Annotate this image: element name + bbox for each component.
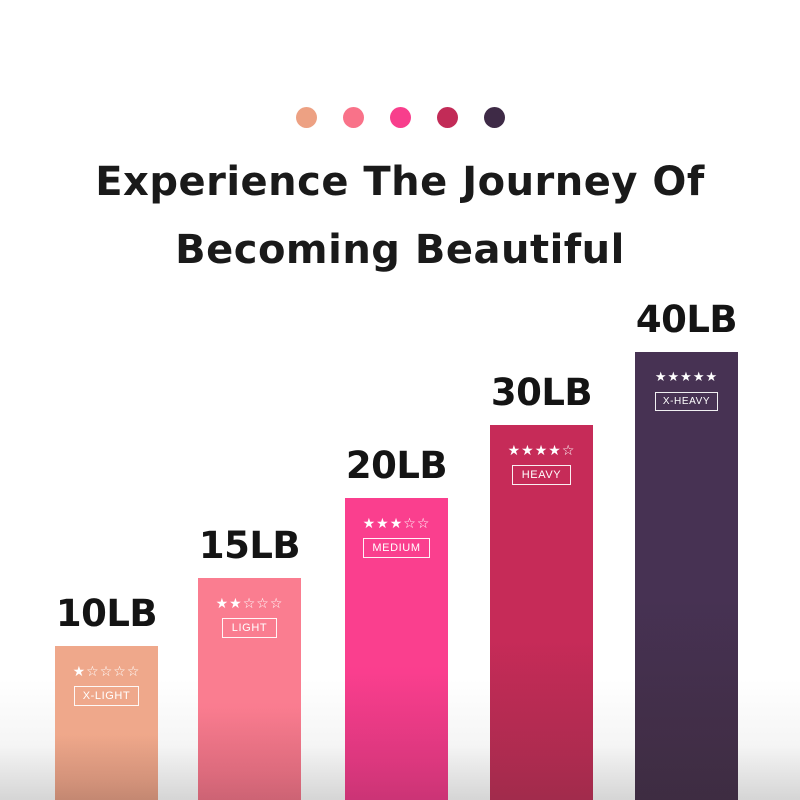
bar-30lb-shadow xyxy=(490,643,593,800)
bar-15lb-level-badge: LIGHT xyxy=(222,618,277,638)
bar-15lb-star-rating: ★★☆☆☆ xyxy=(198,597,301,611)
bar-20lb-shadow xyxy=(345,673,448,800)
bar-30lb-star-rating: ★★★★☆ xyxy=(490,444,593,458)
bar-15lb-shadow xyxy=(198,707,301,800)
bar-40lb[interactable]: ★★★★★X-HEAVY40LB xyxy=(635,352,738,800)
dot-heavy-icon xyxy=(437,107,458,128)
bar-40lb-fill: ★★★★★X-HEAVY xyxy=(635,352,738,800)
headline-line-2: Becoming Beautiful xyxy=(0,216,800,284)
bar-20lb[interactable]: ★★★☆☆MEDIUM20LB xyxy=(345,498,448,800)
bar-20lb-badge-group: ★★★☆☆MEDIUM xyxy=(345,517,448,558)
bar-10lb-weight-label: 10LB xyxy=(55,594,158,634)
bar-15lb-badge-group: ★★☆☆☆LIGHT xyxy=(198,597,301,638)
dot-light-icon xyxy=(343,107,364,128)
bar-30lb-weight-label: 30LB xyxy=(490,373,593,413)
bar-40lb-star-rating: ★★★★★ xyxy=(635,371,738,384)
bar-40lb-badge-group: ★★★★★X-HEAVY xyxy=(635,371,738,411)
bar-40lb-shadow xyxy=(635,612,738,800)
bar-10lb-star-rating: ★☆☆☆☆ xyxy=(55,665,158,679)
bar-20lb-fill: ★★★☆☆MEDIUM xyxy=(345,498,448,800)
bar-20lb-weight-label: 20LB xyxy=(345,446,448,486)
headline-line-1: Experience The Journey Of xyxy=(0,148,800,216)
color-swatch-row xyxy=(0,107,800,128)
dot-x-heavy-icon xyxy=(484,107,505,128)
bar-40lb-weight-label: 40LB xyxy=(635,300,738,340)
bar-10lb-shadow xyxy=(55,735,158,800)
bar-40lb-level-badge: X-HEAVY xyxy=(655,392,718,411)
bar-30lb-level-badge: HEAVY xyxy=(512,465,571,485)
bar-10lb-fill: ★☆☆☆☆X-LIGHT xyxy=(55,646,158,800)
dot-medium-icon xyxy=(390,107,411,128)
bar-15lb-fill: ★★☆☆☆LIGHT xyxy=(198,578,301,800)
dot-x-light-icon xyxy=(296,107,317,128)
bar-30lb[interactable]: ★★★★☆HEAVY30LB xyxy=(490,425,593,800)
bar-15lb[interactable]: ★★☆☆☆LIGHT15LB xyxy=(198,578,301,800)
bar-15lb-weight-label: 15LB xyxy=(198,526,301,566)
poster-canvas: Experience The Journey Of Becoming Beaut… xyxy=(0,0,800,800)
bar-10lb-level-badge: X-LIGHT xyxy=(74,686,140,706)
page-title: Experience The Journey Of Becoming Beaut… xyxy=(0,148,800,284)
resistance-bar-chart: ★☆☆☆☆X-LIGHT10LB★★☆☆☆LIGHT15LB★★★☆☆MEDIU… xyxy=(0,280,800,800)
bar-10lb-badge-group: ★☆☆☆☆X-LIGHT xyxy=(55,665,158,706)
bar-30lb-badge-group: ★★★★☆HEAVY xyxy=(490,444,593,485)
bar-20lb-level-badge: MEDIUM xyxy=(363,538,429,558)
bar-20lb-star-rating: ★★★☆☆ xyxy=(345,517,448,531)
bar-10lb[interactable]: ★☆☆☆☆X-LIGHT10LB xyxy=(55,646,158,800)
bar-30lb-fill: ★★★★☆HEAVY xyxy=(490,425,593,800)
